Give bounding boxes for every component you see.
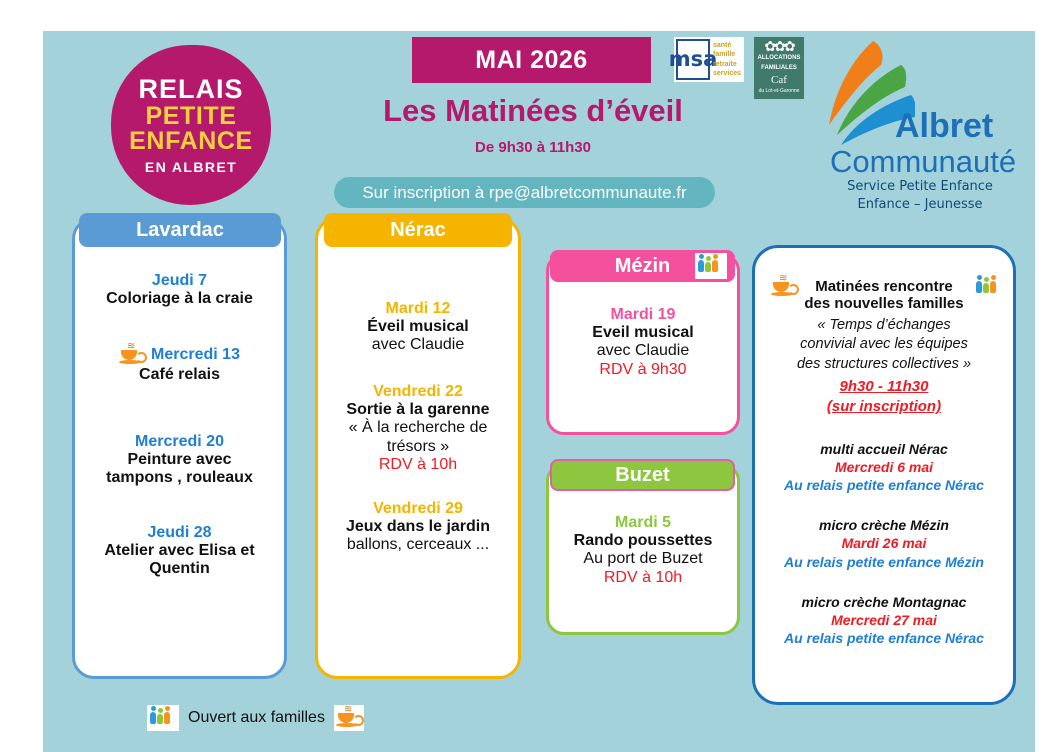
poster-canvas: RELAIS PETITE ENFANCE EN ALBRET MAI 2026…	[43, 31, 1035, 752]
right-panel-heading: Matinées rencontre des nouvelles famille…	[755, 278, 1013, 313]
legend-family-label: Ouvert aux familles	[188, 709, 325, 727]
logo-line-enfance: ENFANCE	[129, 129, 253, 155]
event-date: Mardi 19	[555, 306, 731, 324]
logo-line-en-albret: EN ALBRET	[145, 160, 237, 174]
entry-date: Mardi 26 mai	[755, 534, 1013, 552]
column-header-nerac[interactable]: Nérac	[324, 213, 512, 247]
event-item: Jeudi 7 Coloriage à la craie	[75, 272, 284, 308]
event-rdv: RDV à 9h30	[555, 361, 731, 379]
event-rdv: RDV à 10h	[555, 569, 731, 587]
coffee-cup-icon: ≋	[119, 344, 145, 366]
event-line: Atelier avec Elisa et	[81, 542, 278, 560]
caf-line-caf: Caf	[754, 74, 804, 88]
event-line: Éveil musical	[324, 318, 512, 336]
event-line: ballons, cerceaux ...	[324, 536, 512, 554]
entry-name: micro crèche Mézin	[755, 516, 1013, 534]
albret-communaute-logo: Albret Communauté Service Petite Enfance…	[815, 39, 1025, 209]
entry-place: Au relais petite enfance Nérac	[755, 476, 1013, 494]
inscription-banner: Sur inscription à rpe@albretcommunaute.f…	[334, 177, 715, 208]
caf-line-dept: du Lot-et-Garonne	[754, 88, 804, 94]
event-line: avec Claudie	[555, 342, 731, 360]
entry-date: Mercredi 6 mai	[755, 458, 1013, 476]
event-date: Mercredi 13	[151, 346, 240, 364]
entry-name: micro crèche Montagnac	[755, 593, 1013, 611]
event-line: tampons , rouleaux	[81, 469, 278, 487]
event-item: Vendredi 29 Jeux dans le jardin ballons,…	[318, 500, 518, 555]
event-line: avec Claudie	[324, 336, 512, 354]
coffee-cup-icon: ≋	[336, 707, 362, 729]
event-line: Quentin	[81, 560, 278, 578]
caf-line-familiales: FAMILIALES	[754, 65, 804, 73]
family-icon	[147, 705, 179, 731]
page-title: Les Matinées d’éveil	[343, 93, 723, 129]
column-header-lavardac[interactable]: Lavardac	[79, 213, 281, 247]
registration-note: (sur inscription)	[755, 397, 1013, 417]
event-date: Vendredi 29	[324, 500, 512, 518]
event-line: Rando poussettes	[555, 532, 731, 550]
event-date: Mercredi 20	[81, 433, 278, 451]
msa-word-1: famille	[713, 50, 742, 59]
msa-words: santé famille retraite services	[710, 39, 742, 80]
event-line: Coloriage à la craie	[81, 290, 278, 308]
communaute-name: Communauté	[830, 144, 1016, 180]
event-line: Peinture avec	[81, 451, 278, 469]
event-line: « À la recherche de	[324, 419, 512, 437]
entry-date: Mercredi 27 mai	[755, 611, 1013, 629]
hours-value: 9h30 - 11h30	[755, 377, 1013, 397]
legend: Ouvert aux familles ≋	[147, 705, 364, 731]
event-line: Jeux dans le jardin	[324, 518, 512, 536]
event-item: Mercredi 20 Peinture avec tampons , roul…	[75, 433, 284, 488]
right-panel-matinees-rencontre: ≋ Matinées rencontre des nouvelles famil…	[752, 245, 1016, 705]
logo-line-petite: PETITE	[145, 104, 236, 130]
event-item: ≋ Mercredi 13 Café relais	[75, 344, 284, 384]
event-line: Au port de Buzet	[555, 550, 731, 568]
msa-logo: msa santé famille retraite services	[674, 37, 744, 82]
event-date: Jeudi 7	[81, 272, 278, 290]
column-header-mezin-label: Mézin	[590, 255, 695, 278]
msa-word-0: santé	[713, 41, 742, 50]
entry-place: Au relais petite enfance Mézin	[755, 553, 1013, 571]
quote-line-1: « Temps d’échanges	[763, 316, 1005, 336]
caf-logo: ✿✿✿ ALLOCATIONS FAMILIALES Caf du Lot-et…	[754, 37, 804, 99]
event-line: Café relais	[81, 366, 278, 384]
albret-name: Albret	[895, 107, 993, 146]
rencontre-entry: multi accueil Nérac Mercredi 6 mai Au re…	[755, 440, 1013, 495]
msa-word-3: services	[713, 69, 742, 78]
column-card-lavardac: Jeudi 7 Coloriage à la craie ≋ Mercredi …	[72, 217, 287, 679]
event-item: Jeudi 28 Atelier avec Elisa et Quentin	[75, 524, 284, 579]
event-line: Sortie à la garenne	[324, 401, 512, 419]
event-rdv: RDV à 10h	[324, 456, 512, 474]
msa-mark: msa	[676, 39, 710, 80]
column-header-mezin[interactable]: Mézin	[550, 250, 735, 282]
family-icon	[695, 253, 727, 279]
quote-line-2: convivial avec les équipes	[763, 335, 1005, 355]
event-item: Mardi 19 Eveil musical avec Claudie RDV …	[549, 306, 737, 379]
event-date: Jeudi 28	[81, 524, 278, 542]
event-date: Mardi 12	[324, 300, 512, 318]
event-item: Mardi 12 Éveil musical avec Claudie	[318, 300, 518, 355]
event-line: trésors »	[324, 438, 512, 456]
albret-tagline-1: Service Petite Enfance	[815, 179, 1025, 194]
right-panel-heading-line1: Matinées rencontre	[755, 278, 1013, 295]
entry-name: multi accueil Nérac	[755, 440, 1013, 458]
rencontre-entry: micro crèche Mézin Mardi 26 mai Au relai…	[755, 516, 1013, 571]
event-item: Vendredi 22 Sortie à la garenne « À la r…	[318, 383, 518, 474]
caf-stars-icon: ✿✿✿	[754, 39, 804, 53]
event-date: Mardi 5	[555, 514, 731, 532]
quote-line-3: des structures collectives »	[763, 355, 1005, 375]
right-panel-quote: « Temps d’échanges convivial avec les éq…	[755, 316, 1013, 375]
coffee-legend-box: ≋	[334, 705, 364, 731]
msa-word-2: retraite	[713, 60, 742, 69]
right-panel-hours: 9h30 - 11h30 (sur inscription)	[755, 377, 1013, 418]
month-banner: MAI 2026	[412, 37, 651, 83]
event-line: Eveil musical	[555, 324, 731, 342]
column-header-buzet[interactable]: Buzet	[550, 459, 735, 491]
rencontre-entry: micro crèche Montagnac Mercredi 27 mai A…	[755, 593, 1013, 648]
caf-line-allocations: ALLOCATIONS	[754, 55, 804, 63]
logo-line-relais: RELAIS	[138, 76, 243, 104]
relais-petite-enfance-logo: RELAIS PETITE ENFANCE EN ALBRET	[111, 45, 271, 205]
albret-tagline-2: Enfance – Jeunesse	[815, 197, 1025, 212]
entry-place: Au relais petite enfance Nérac	[755, 629, 1013, 647]
page-subtitle: De 9h30 à 11h30	[343, 139, 723, 156]
column-card-nerac: Mardi 12 Éveil musical avec Claudie Vend…	[315, 217, 521, 679]
event-date: Vendredi 22	[324, 383, 512, 401]
event-item: Mardi 5 Rando poussettes Au port de Buze…	[549, 514, 737, 587]
right-panel-heading-line2: des nouvelles familles	[755, 295, 1013, 312]
